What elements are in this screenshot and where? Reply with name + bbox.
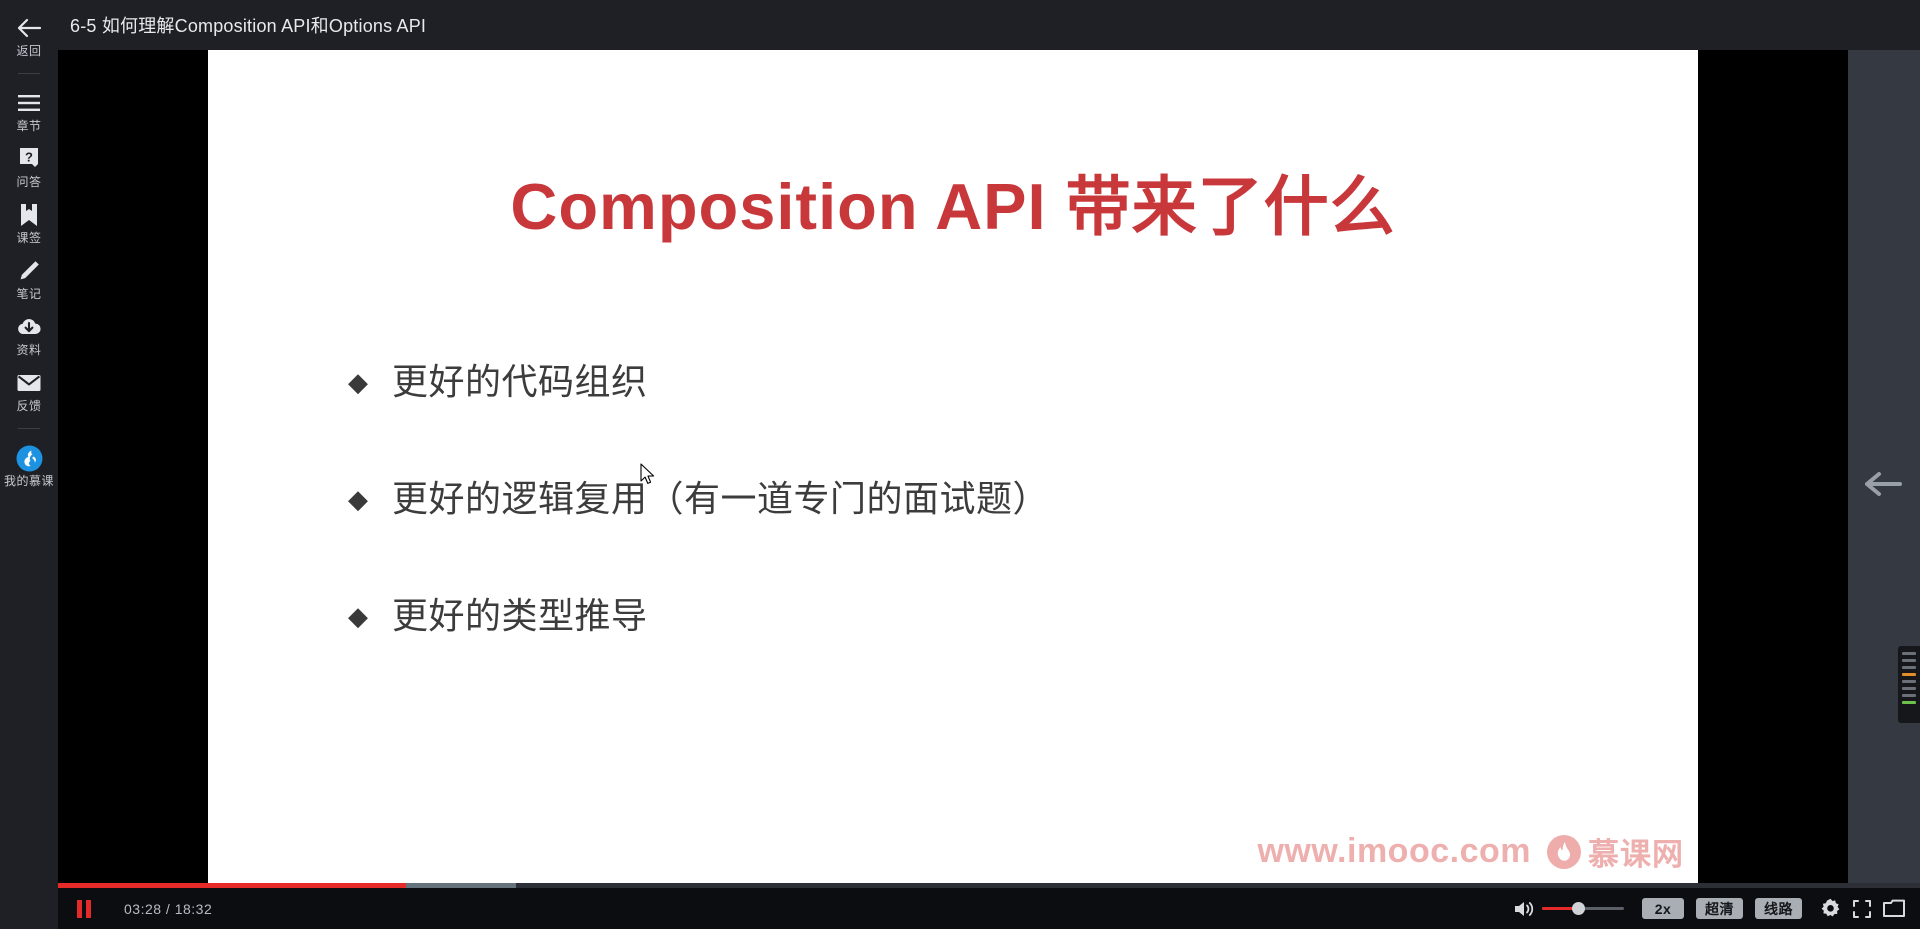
sidebar-label-mycourse: 我的慕课 — [4, 474, 54, 488]
mini-line — [1902, 652, 1916, 655]
sidebar-item-qa[interactable]: ? 问答 — [0, 139, 58, 195]
diamond-bullet-icon: ◆ — [348, 594, 392, 638]
watermark-brand: 慕课网 — [1588, 829, 1684, 874]
mini-line — [1902, 680, 1916, 683]
imooc-avatar-icon — [16, 445, 43, 471]
bookmark-icon — [19, 202, 39, 228]
video-stage[interactable]: Composition API 带来了什么 ◆ 更好的代码组织 ◆ 更好的逻辑复… — [58, 50, 1848, 888]
imooc-logo: 慕课网 — [1547, 829, 1684, 874]
download-cloud-icon — [16, 314, 42, 340]
menu-icon — [17, 90, 41, 116]
list-item: ◆ 更好的逻辑复用（有一道专门的面试题） — [348, 477, 1548, 521]
bullet-text: 更好的类型推导 — [392, 594, 648, 638]
svg-text:?: ? — [25, 150, 33, 165]
mini-line-orange — [1902, 673, 1916, 676]
right-rail-panel — [1848, 50, 1920, 888]
video-player-page: 返回 章节 ? 问答 — [0, 0, 1920, 929]
sidebar-label-notes: 笔记 — [16, 287, 41, 301]
sidebar-label-material: 资料 — [16, 343, 41, 357]
sidebar-divider-1 — [18, 73, 40, 74]
list-item: ◆ 更好的类型推导 — [348, 594, 1548, 638]
mini-line — [1902, 687, 1916, 690]
controls-right-group: 2x 超清 线路 — [1506, 888, 1910, 929]
sidebar-item-mycourse[interactable]: 我的慕课 — [0, 438, 58, 494]
mini-line-green — [1902, 701, 1916, 704]
slide-watermark: www.imooc.com 慕课网 — [1257, 829, 1684, 874]
route-button[interactable]: 线路 — [1755, 898, 1802, 919]
mini-toolbar-panel[interactable] — [1898, 646, 1920, 723]
picture-in-picture-icon[interactable] — [1878, 888, 1910, 929]
quality-button[interactable]: 超清 — [1696, 898, 1743, 919]
mini-line — [1902, 694, 1916, 697]
player-controls: 03:28 / 18:32 2x 超清 线路 — [58, 888, 1920, 929]
pencil-icon — [17, 258, 41, 284]
pause-bar — [86, 900, 91, 918]
sidebar-label-feedback: 反馈 — [16, 399, 41, 413]
question-icon: ? — [18, 146, 40, 172]
watermark-url: www.imooc.com — [1257, 832, 1531, 871]
playback-speed-button[interactable]: 2x — [1642, 898, 1684, 919]
flame-icon — [1547, 835, 1581, 869]
sidebar-label-chapters: 章节 — [16, 119, 41, 133]
pause-button[interactable] — [58, 888, 110, 929]
mini-line — [1902, 659, 1916, 662]
diamond-bullet-icon: ◆ — [348, 477, 392, 521]
sidebar-label-qa: 问答 — [16, 175, 41, 189]
mouse-cursor — [640, 463, 656, 487]
bullet-text: 更好的逻辑复用（有一道专门的面试题） — [392, 477, 1049, 521]
back-arrow-icon — [16, 15, 42, 41]
sidebar-item-chapters[interactable]: 章节 — [0, 83, 58, 139]
sidebar-item-notes[interactable]: 笔记 — [0, 251, 58, 307]
envelope-icon — [16, 370, 42, 396]
sidebar-item-material[interactable]: 资料 — [0, 307, 58, 363]
arrow-left-icon[interactable] — [1865, 471, 1903, 497]
sidebar-label-bookmark: 课签 — [16, 231, 41, 245]
list-item: ◆ 更好的代码组织 — [348, 360, 1548, 404]
slide-bullet-list: ◆ 更好的代码组织 ◆ 更好的逻辑复用（有一道专门的面试题） ◆ 更好的类型推导 — [348, 360, 1548, 711]
volume-slider[interactable] — [1542, 888, 1624, 929]
sidebar-divider-2 — [18, 428, 40, 429]
slide-content: Composition API 带来了什么 ◆ 更好的代码组织 ◆ 更好的逻辑复… — [208, 50, 1698, 888]
sidebar-label-back: 返回 — [16, 44, 41, 58]
time-display: 03:28 / 18:32 — [124, 901, 212, 917]
volume-handle[interactable] — [1572, 902, 1585, 915]
pause-bar — [77, 900, 82, 918]
controls-left-group: 03:28 / 18:32 — [58, 888, 212, 929]
sidebar-item-back[interactable]: 返回 — [0, 8, 58, 64]
gear-icon[interactable] — [1814, 888, 1846, 929]
mini-line — [1902, 666, 1916, 669]
top-header: 6-5 如何理解Composition API和Options API — [58, 0, 1920, 50]
sidebar-item-feedback[interactable]: 反馈 — [0, 363, 58, 419]
fullscreen-icon[interactable] — [1846, 888, 1878, 929]
left-sidebar: 返回 章节 ? 问答 — [0, 0, 58, 929]
bullet-text: 更好的代码组织 — [392, 360, 648, 404]
page-title: 6-5 如何理解Composition API和Options API — [70, 0, 426, 50]
diamond-bullet-icon: ◆ — [348, 360, 392, 404]
volume-icon[interactable] — [1506, 888, 1542, 929]
sidebar-item-bookmark[interactable]: 课签 — [0, 195, 58, 251]
slide-title: Composition API 带来了什么 — [208, 154, 1698, 248]
